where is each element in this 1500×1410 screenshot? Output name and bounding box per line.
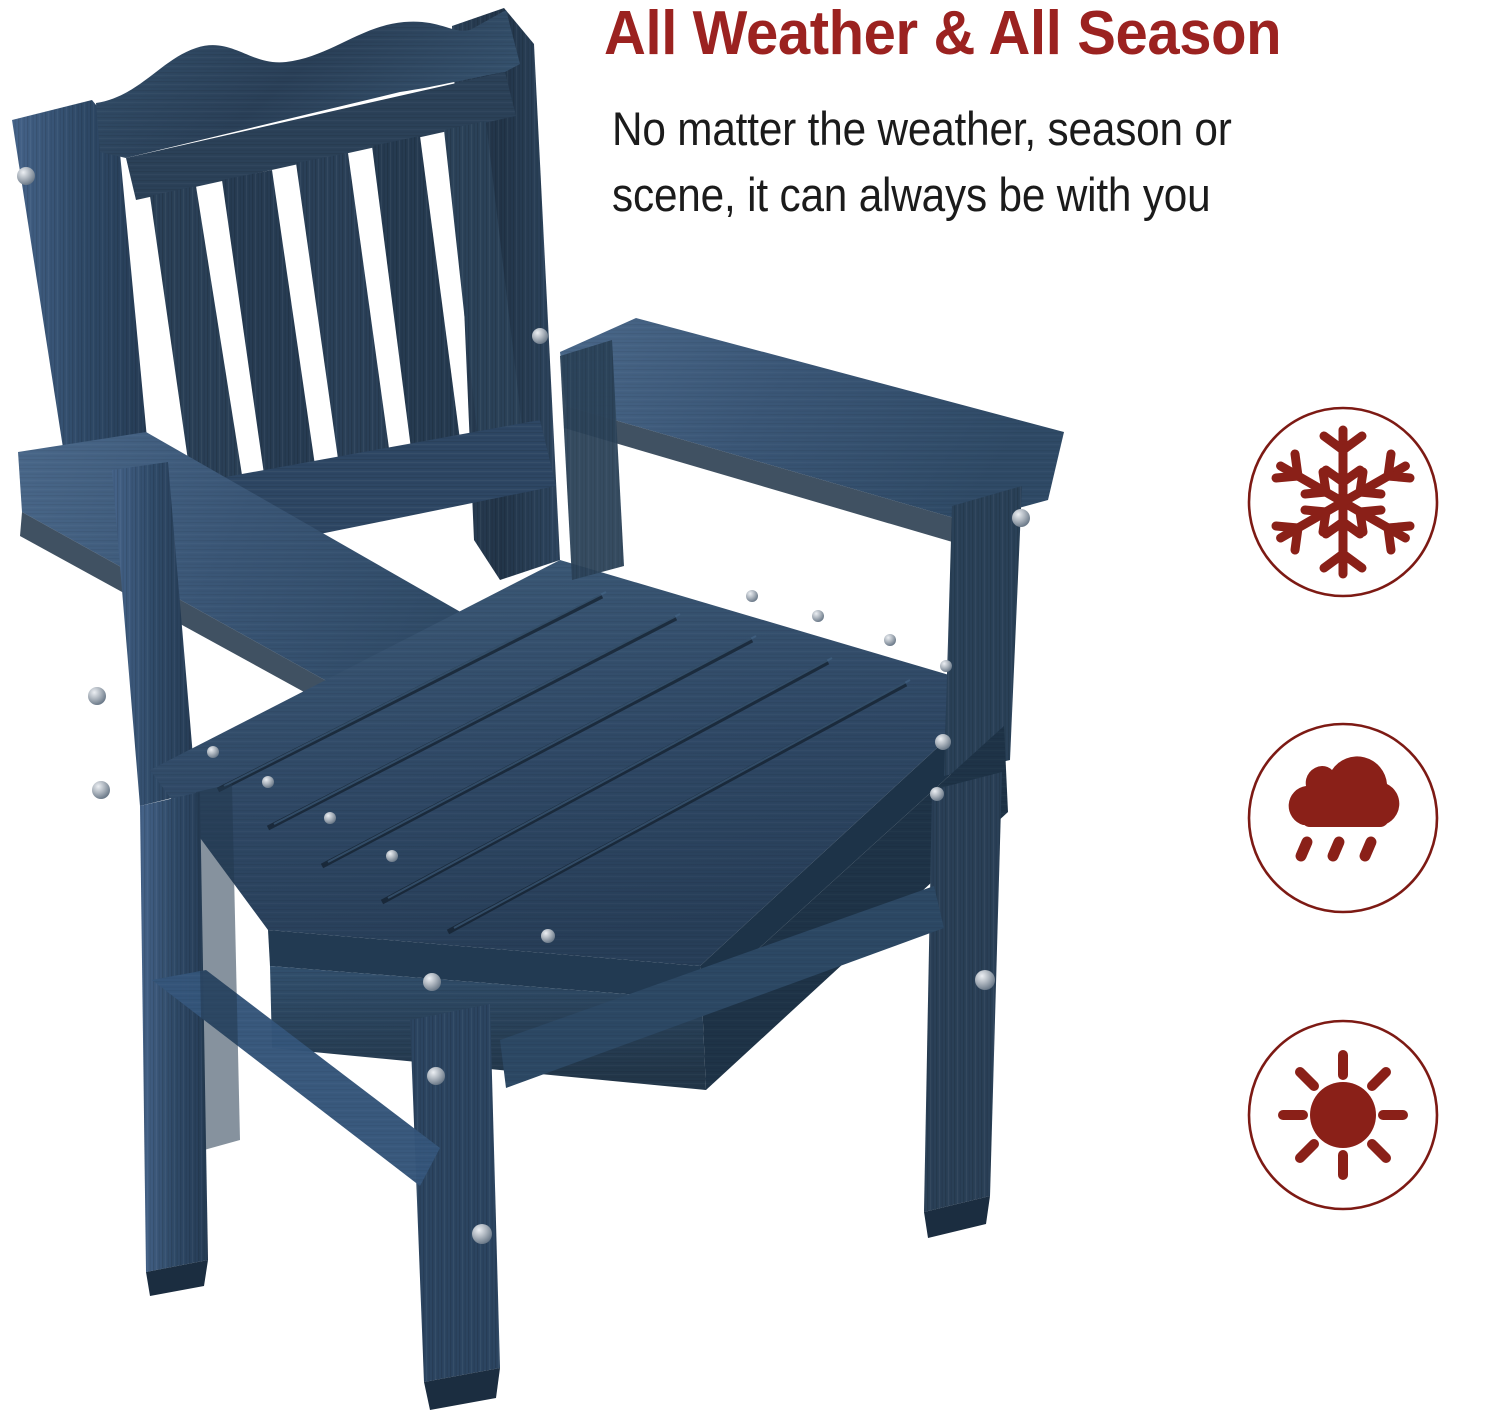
subheadline-line-1: No matter the weather, season or	[612, 96, 1404, 162]
feature-badge-snow	[1245, 404, 1441, 600]
product-marketing-image: All Weather & All Season No matter the w…	[0, 0, 1500, 1410]
sun-icon	[1283, 1055, 1403, 1175]
feature-badge-rain	[1245, 720, 1441, 916]
marketing-copy: All Weather & All Season No matter the w…	[600, 0, 1500, 245]
snowflake-icon	[1276, 430, 1410, 574]
rain-cloud-icon	[1289, 756, 1400, 856]
subheadline-line-2: scene, it can always be with you	[612, 162, 1404, 228]
feature-badge-sun	[1245, 1017, 1441, 1213]
headline: All Weather & All Season	[604, 2, 1436, 66]
subheadline: No matter the weather, season or scene, …	[612, 96, 1404, 228]
